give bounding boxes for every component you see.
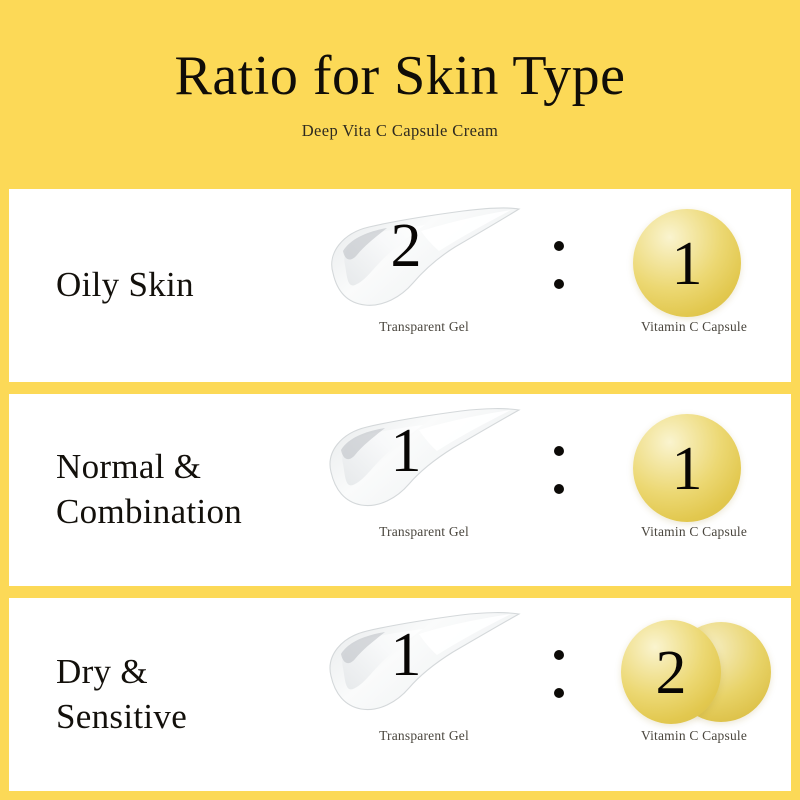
gel-caption: Transparent Gel [329, 524, 519, 540]
ratio-visual: 1 Transparent Gel 1 Vitamin C Capsule [309, 394, 791, 587]
vitamin-c-capsule-icon: 1 [599, 207, 789, 319]
colon-dot-bottom [554, 484, 564, 494]
ratio-visual: 2 Transparent Gel 1 Vitamin C Capsule [309, 189, 791, 382]
gel-group: 1 Transparent Gel [321, 598, 536, 791]
gel-group: 1 Transparent Gel [321, 394, 536, 587]
capsule-group: 1 Vitamin C Capsule [599, 394, 791, 587]
vitamin-c-capsule-icon: 1 [599, 412, 789, 524]
capsule-caption: Vitamin C Capsule [599, 728, 789, 744]
skin-type-text: Dry & Sensitive [56, 650, 187, 740]
colon-dot-top [554, 650, 564, 660]
gel-caption: Transparent Gel [329, 319, 519, 335]
infographic-page: Ratio for Skin Type Deep Vita C Capsule … [0, 0, 800, 800]
page-header: Ratio for Skin Type Deep Vita C Capsule … [0, 0, 800, 188]
capsule-group: 2 Vitamin C Capsule [599, 598, 791, 791]
ratio-visual: 1 Transparent Gel 2 Vitamin C Capsule [309, 598, 791, 791]
ratio-row-dry-sensitive: Dry & Sensitive [9, 598, 791, 791]
capsule-caption: Vitamin C Capsule [599, 524, 789, 540]
colon-dot-bottom [554, 688, 564, 698]
skin-type-text: Oily Skin [56, 263, 194, 308]
page-subtitle: Deep Vita C Capsule Cream [302, 121, 499, 141]
page-title: Ratio for Skin Type [175, 48, 626, 105]
capsule-amount: 1 [647, 438, 727, 500]
gel-amount: 2 [371, 215, 441, 277]
gel-amount: 1 [371, 624, 441, 686]
capsule-group: 1 Vitamin C Capsule [599, 189, 791, 382]
gel-group: 2 Transparent Gel [321, 189, 536, 382]
ratio-card-list: Oily Skin [9, 189, 791, 791]
ratio-separator [549, 650, 569, 698]
colon-dot-top [554, 446, 564, 456]
skin-type-label: Normal & Combination [9, 394, 309, 587]
colon-dot-bottom [554, 279, 564, 289]
skin-type-text: Normal & Combination [56, 445, 242, 535]
ratio-row-oily-skin: Oily Skin [9, 189, 791, 382]
ratio-separator [549, 446, 569, 494]
capsule-caption: Vitamin C Capsule [599, 319, 789, 335]
ratio-separator [549, 241, 569, 289]
ratio-row-normal-combination: Normal & Combination [9, 394, 791, 587]
gel-amount: 1 [371, 420, 441, 482]
colon-dot-top [554, 241, 564, 251]
skin-type-label: Oily Skin [9, 189, 309, 382]
gel-caption: Transparent Gel [329, 728, 519, 744]
vitamin-c-capsule-icon: 2 [599, 616, 789, 728]
capsule-amount: 1 [647, 233, 727, 295]
capsule-amount: 2 [631, 642, 711, 704]
skin-type-label: Dry & Sensitive [9, 598, 309, 791]
